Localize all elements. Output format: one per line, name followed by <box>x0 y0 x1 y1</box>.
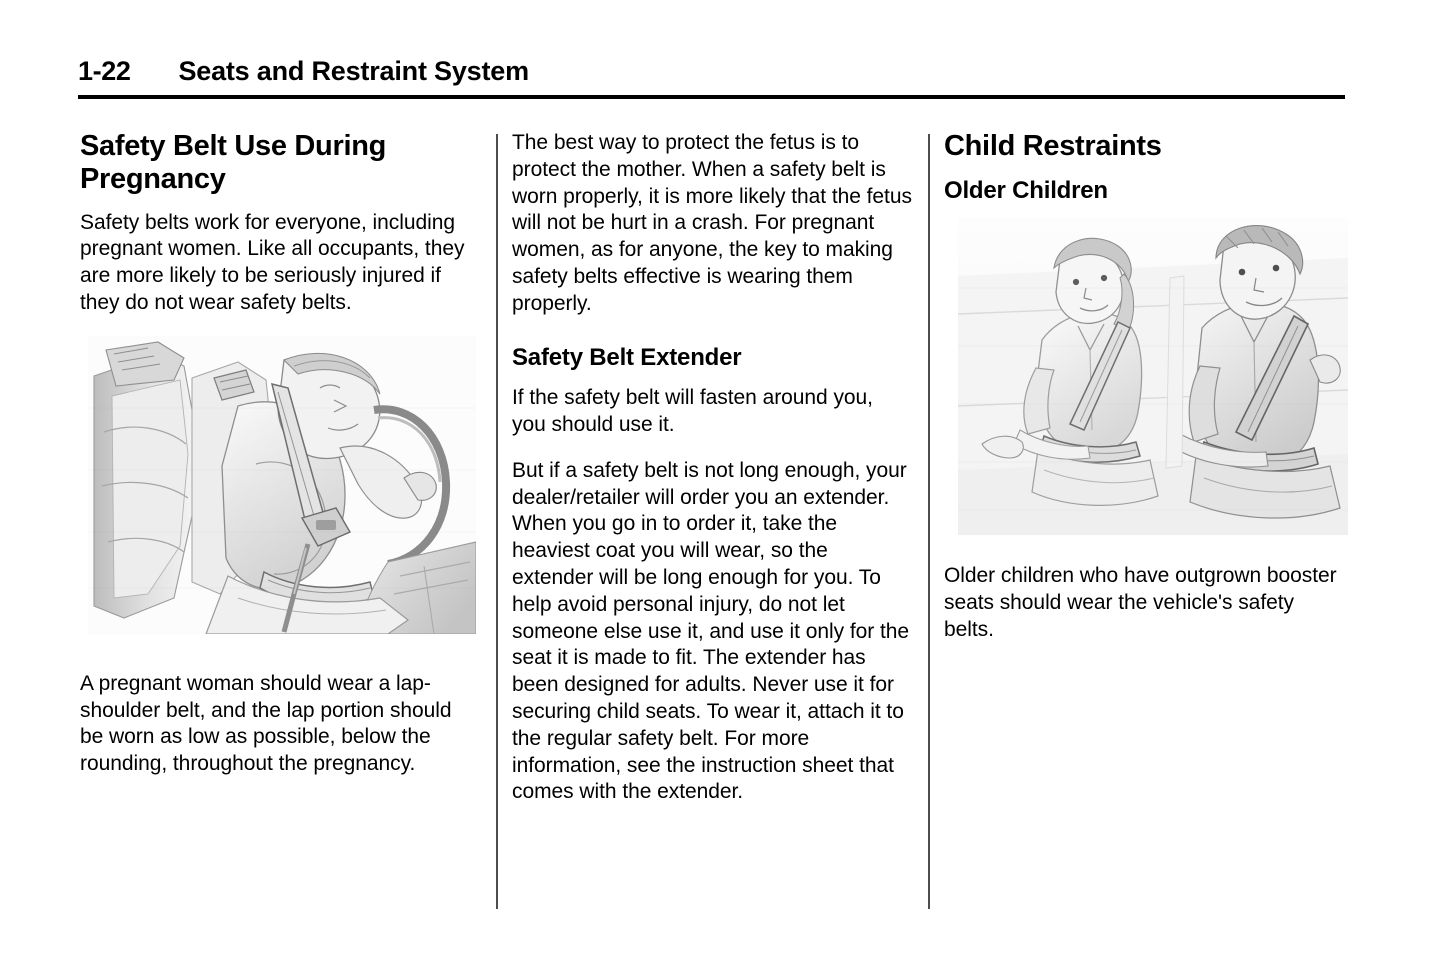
heading-child-restraints: Child Restraints <box>944 130 1340 163</box>
illustration-pregnant-woman-icon <box>88 336 476 634</box>
column-divider-1 <box>496 134 498 909</box>
illustration-two-children-icon <box>958 218 1348 535</box>
heading-older-children: Older Children <box>944 177 1340 205</box>
figure-older-children-safety-belts <box>958 218 1348 535</box>
page-number: 1-22 <box>78 58 130 85</box>
heading-safety-belt-use-during-pregnancy: Safety Belt Use During Pregnancy <box>80 130 476 196</box>
column-three: Child Restraints Older Children <box>944 130 1340 644</box>
paragraph-extender-details: But if a safety belt is not long enough,… <box>512 458 912 806</box>
paragraph-extender-intro: If the safety belt will fasten around yo… <box>512 385 912 439</box>
caption-pregnancy-figure: A pregnant woman should wear a lap-shoul… <box>80 671 476 778</box>
column-divider-2 <box>928 134 930 909</box>
column-one: Safety Belt Use During Pregnancy Safety … <box>80 130 476 778</box>
page-header: 1-22 Seats and Restraint System <box>78 58 1345 100</box>
paragraph-protect-fetus: The best way to protect the fetus is to … <box>512 130 912 318</box>
header-rule <box>78 95 1345 99</box>
heading-safety-belt-extender: Safety Belt Extender <box>512 344 912 372</box>
column-two: The best way to protect the fetus is to … <box>512 130 912 806</box>
paragraph-pregnancy-intro: Safety belts work for everyone, includin… <box>80 210 476 317</box>
figure-pregnant-woman-safety-belt <box>88 336 476 634</box>
page-title: Seats and Restraint System <box>178 58 528 85</box>
content-columns: Safety Belt Use During Pregnancy Safety … <box>0 130 1445 920</box>
caption-older-children-figure: Older children who have outgrown booster… <box>944 563 1340 643</box>
